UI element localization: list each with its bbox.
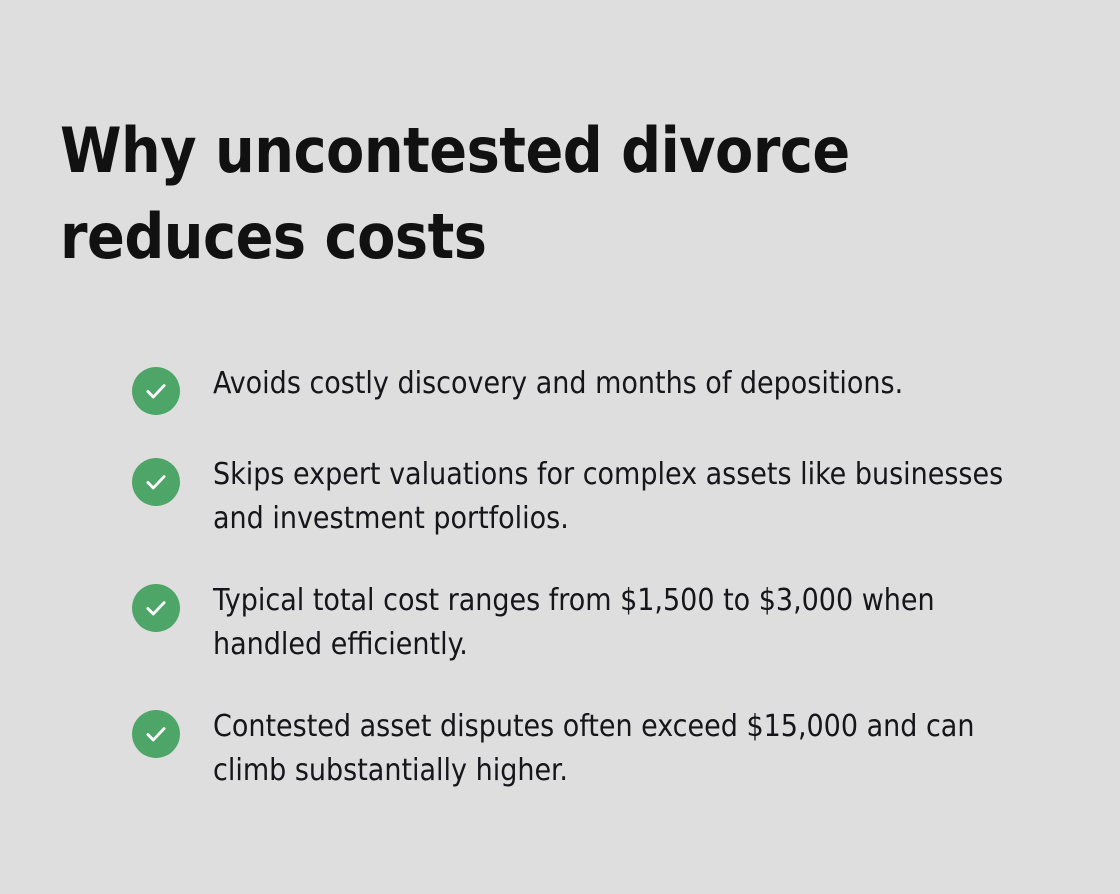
list-item: Contested asset disputes often exceed $1… — [132, 705, 1062, 793]
list-item: Avoids costly discovery and months of de… — [132, 362, 1062, 415]
check-circle-icon — [132, 710, 180, 758]
check-circle-icon — [132, 584, 180, 632]
page-title: Why uncontested divorce reduces costs — [60, 108, 960, 280]
benefits-list: Avoids costly discovery and months of de… — [132, 362, 1062, 793]
list-item-label: Avoids costly discovery and months of de… — [213, 362, 903, 406]
check-circle-icon — [132, 367, 180, 415]
list-item: Skips expert valuations for complex asse… — [132, 453, 1062, 541]
check-circle-icon — [132, 458, 180, 506]
list-item-label: Skips expert valuations for complex asse… — [213, 453, 1048, 541]
list-item: Typical total cost ranges from $1,500 to… — [132, 579, 1062, 667]
list-item-label: Typical total cost ranges from $1,500 to… — [213, 579, 1048, 667]
list-item-label: Contested asset disputes often exceed $1… — [213, 705, 1048, 793]
infographic-slide: Why uncontested divorce reduces costs Av… — [0, 0, 1120, 894]
